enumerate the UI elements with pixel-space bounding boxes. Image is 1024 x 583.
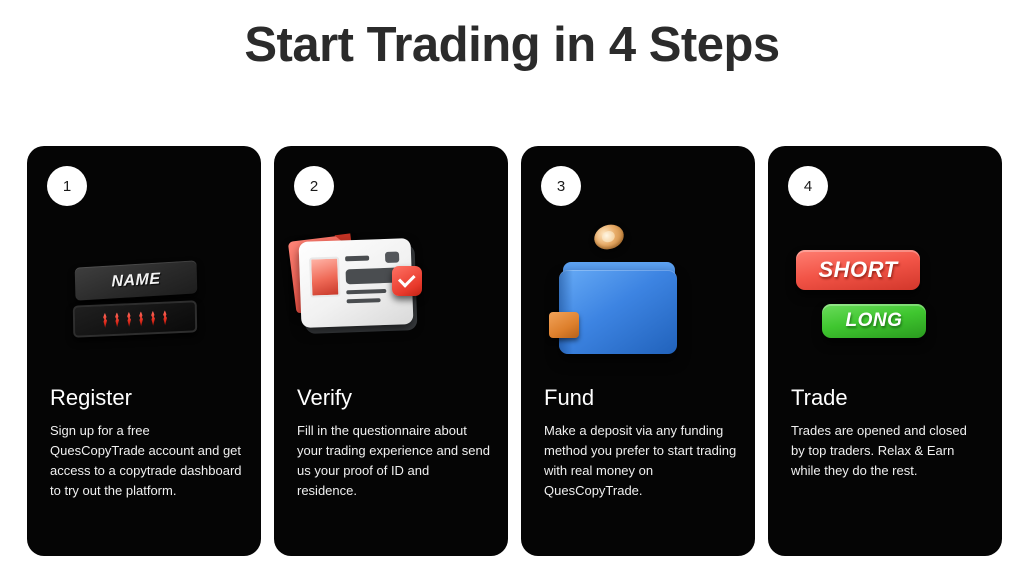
page-title: Start Trading in 4 Steps [0, 17, 1024, 73]
step-number-badge: 3 [541, 166, 581, 206]
step-heading: Fund [544, 384, 737, 412]
step-description: Fill in the questionnaire about your tra… [297, 421, 490, 501]
id-text-line [346, 289, 386, 294]
step-description: Trades are opened and closed by top trad… [791, 421, 984, 481]
password-mark-icon [125, 312, 132, 327]
password-mark-icon [149, 311, 156, 326]
password-mark-icon [161, 310, 168, 325]
coin-icon [591, 221, 627, 253]
steps-card-row: 1 NAME Register Sign up for a free QuesC… [27, 146, 997, 556]
password-mark-icon [113, 312, 120, 327]
check-badge-icon [392, 266, 422, 296]
name-field-illustration: NAME [27, 216, 261, 391]
short-button-icon: SHORT [796, 250, 920, 290]
step-number-badge: 1 [47, 166, 87, 206]
step-card-register[interactable]: 1 NAME Register Sign up for a free QuesC… [27, 146, 261, 556]
step-text-block: Register Sign up for a free QuesCopyTrad… [50, 384, 243, 501]
long-button-icon: LONG [822, 304, 926, 338]
step-text-block: Fund Make a deposit via any funding meth… [544, 384, 737, 501]
step-description: Make a deposit via any funding method yo… [544, 421, 737, 501]
step-text-block: Verify Fill in the questionnaire about y… [297, 384, 490, 501]
password-field-plate [73, 300, 197, 337]
name-plate-text: NAME [111, 270, 160, 291]
id-verification-illustration [274, 216, 508, 391]
id-photo [309, 257, 340, 298]
step-heading: Trade [791, 384, 984, 412]
wallet-coin-illustration [521, 216, 755, 391]
step-heading: Register [50, 384, 243, 412]
step-text-block: Trade Trades are opened and closed by to… [791, 384, 984, 481]
id-chip [385, 251, 399, 262]
step-card-fund[interactable]: 3 Fund Make a deposit via any funding me… [521, 146, 755, 556]
step-description: Sign up for a free QuesCopyTrade account… [50, 421, 243, 501]
id-text-line [347, 298, 381, 303]
step-number-badge: 4 [788, 166, 828, 206]
password-mark-icon [137, 311, 144, 326]
password-mark-icon [101, 313, 108, 328]
step-heading: Verify [297, 384, 490, 412]
step-card-trade[interactable]: 4 SHORT LONG Trade Trades are opened and… [768, 146, 1002, 556]
id-text-line [345, 256, 369, 262]
step-card-verify[interactable]: 2 Verify Fill in the questionnaire about… [274, 146, 508, 556]
wallet-strap [549, 312, 579, 338]
step-number-badge: 2 [294, 166, 334, 206]
name-label-plate: NAME [75, 260, 198, 300]
short-long-buttons-illustration: SHORT LONG [768, 216, 1002, 391]
